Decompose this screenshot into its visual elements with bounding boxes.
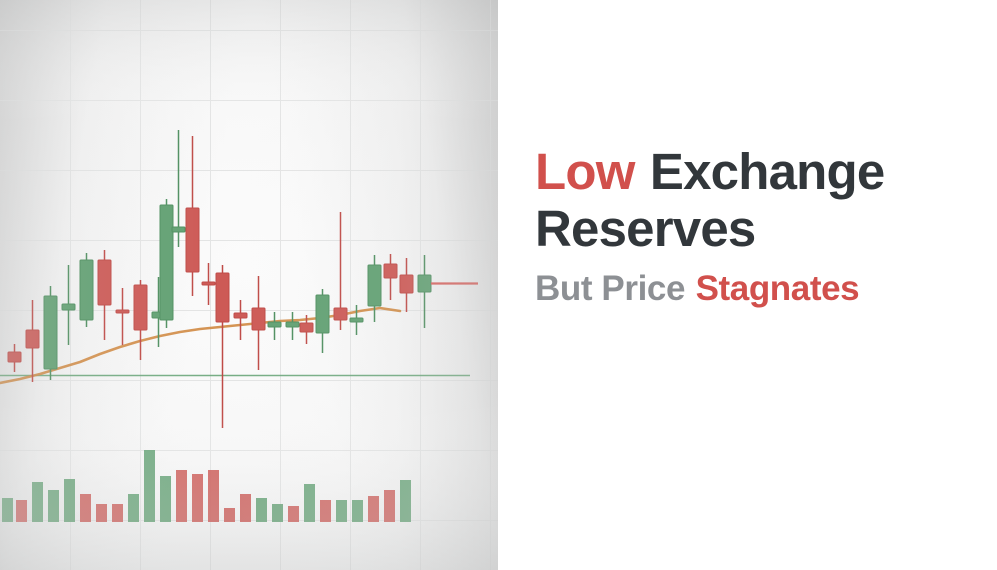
candle-body xyxy=(202,282,215,285)
headline-line-1: LowExchange xyxy=(535,143,965,200)
volume-bar xyxy=(368,496,379,522)
volume-bar xyxy=(272,504,283,522)
volume-bar xyxy=(48,490,59,522)
candle-body xyxy=(116,310,129,313)
volume-bar xyxy=(400,480,411,522)
candle-body xyxy=(418,275,431,292)
candle-body xyxy=(350,318,363,322)
headline-block: LowExchange Reserves But PriceStagnates xyxy=(535,143,965,309)
candle-body xyxy=(368,265,381,306)
candle-body xyxy=(172,227,185,232)
headline-word-exchange: Exchange xyxy=(650,143,885,200)
volume-bar xyxy=(160,476,171,522)
volume-bar xyxy=(32,482,43,522)
volume-bar xyxy=(224,508,235,522)
candle-body xyxy=(44,296,57,369)
candle-body xyxy=(384,264,397,278)
volume-bar xyxy=(240,494,251,522)
candle-body xyxy=(186,208,199,272)
candle-body xyxy=(26,330,39,348)
candle-body xyxy=(234,313,247,318)
volume-bar xyxy=(128,494,139,522)
volume-bar xyxy=(16,500,27,522)
candle-body xyxy=(286,322,299,327)
volume-bar xyxy=(96,504,107,522)
candle-body xyxy=(400,275,413,293)
candle-body xyxy=(134,285,147,330)
volume-bar xyxy=(288,506,299,522)
volume-bar xyxy=(256,498,267,522)
screenshot-canvas: LowExchange Reserves But PriceStagnates xyxy=(0,0,997,570)
volume-bar xyxy=(304,484,315,522)
candle-body xyxy=(252,308,265,330)
candlestick-series xyxy=(8,130,431,428)
candle-body xyxy=(62,304,75,310)
candle-body xyxy=(160,205,173,320)
volume-bar xyxy=(2,498,13,522)
volume-bar xyxy=(336,500,347,522)
volume-bar-series xyxy=(2,450,411,522)
headline-line-2: Reserves xyxy=(535,200,965,257)
volume-bar xyxy=(64,479,75,522)
volume-bar xyxy=(80,494,91,522)
volume-bar xyxy=(384,490,395,522)
volume-bar xyxy=(352,500,363,522)
candle-body xyxy=(8,352,21,362)
headline-panel: LowExchange Reserves But PriceStagnates xyxy=(498,0,997,570)
candle-body xyxy=(316,295,329,333)
candle-body xyxy=(216,273,229,322)
candle-body xyxy=(268,322,281,327)
volume-bar xyxy=(112,504,123,522)
headline-word-low: Low xyxy=(535,143,635,200)
subheadline-stagnates: Stagnates xyxy=(696,269,860,308)
candle-body xyxy=(98,260,111,305)
candle-body xyxy=(80,260,93,320)
volume-bar xyxy=(144,450,155,522)
volume-bar xyxy=(176,470,187,522)
candle-body xyxy=(334,308,347,320)
subheadline-but-price: But Price xyxy=(535,269,685,308)
candlestick-chart-panel xyxy=(0,0,498,570)
volume-bar xyxy=(208,470,219,522)
price-chart-svg xyxy=(0,0,498,570)
subheadline-line: But PriceStagnates xyxy=(535,269,965,309)
candle-body xyxy=(300,323,313,332)
volume-bar xyxy=(320,500,331,522)
volume-bar xyxy=(192,474,203,522)
